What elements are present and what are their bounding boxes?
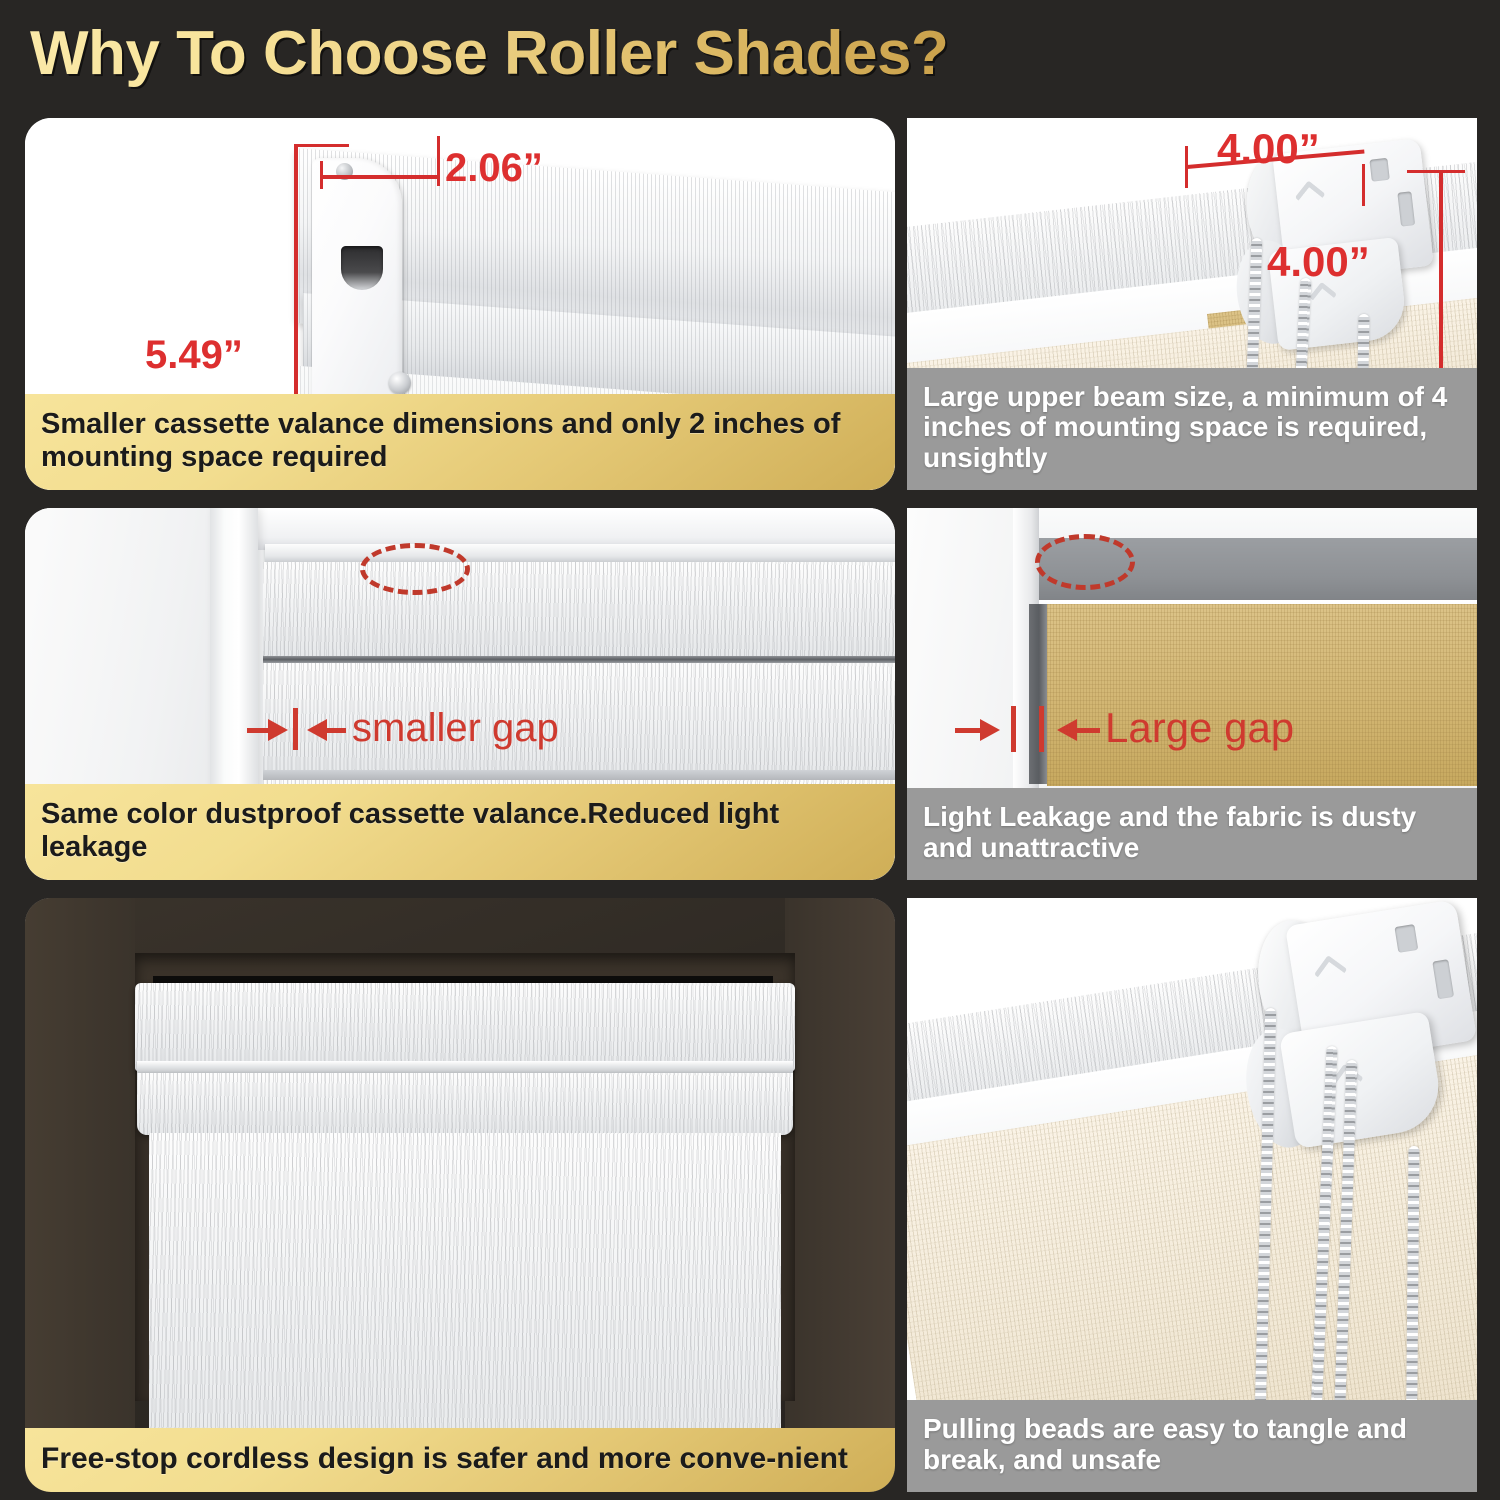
bracket-arrow-icon — [1295, 180, 1326, 211]
valance-shadow-line — [263, 656, 895, 663]
gap-marker-b — [1039, 706, 1044, 752]
beam-width-label: 4.00” — [1217, 125, 1320, 173]
shade-hem — [263, 770, 895, 780]
cassette-valance-front — [135, 983, 795, 1071]
height-dimension-label: 5.49” — [145, 333, 243, 378]
width-tick-left — [320, 161, 323, 189]
beam-width-tick-right — [1362, 164, 1365, 206]
gap-arrow-right-icon — [268, 719, 288, 741]
width-tick-right — [437, 136, 440, 186]
room-wall-left — [25, 898, 135, 1492]
gap-arrow-stem-right — [326, 728, 346, 733]
bracket-arrow-icon-6a — [1314, 955, 1348, 989]
large-gap-label: Large gap — [1105, 704, 1294, 752]
panel-4-caption: Light Leakage and the fabric is dusty an… — [907, 788, 1477, 880]
width-dimension-line — [320, 175, 440, 179]
comparison-grid: 2.06” 5.49” Smaller cassette valance dim… — [0, 110, 1500, 1500]
panel-smaller-cassette: 2.06” 5.49” Smaller cassette valance dim… — [25, 118, 895, 490]
panel-6-caption: Pulling beads are easy to tangle and bre… — [907, 1400, 1477, 1492]
gap-marker-a — [1011, 706, 1016, 752]
width-dimension-label: 2.06” — [445, 146, 543, 191]
height-tick-top — [294, 144, 349, 147]
large-gap-stem-left — [955, 728, 981, 733]
panel-large-gap: Large gap Light Leakage and the fabric i… — [907, 508, 1477, 880]
panel-2-caption: Large upper beam size, a minimum of 4 in… — [907, 368, 1477, 490]
cassette-seam — [137, 1061, 793, 1073]
gap-arrow-stem-left — [247, 728, 269, 733]
gap-marker — [293, 708, 298, 750]
panel-pulling-beads: Pulling beads are easy to tangle and bre… — [907, 898, 1477, 1492]
panel-5-photo — [25, 898, 895, 1492]
panel-cordless-design: Free-stop cordless design is safer and m… — [25, 898, 895, 1492]
large-gap-arrow-right-icon — [980, 719, 1000, 741]
panel-1-caption: Smaller cassette valance dimensions and … — [25, 394, 895, 490]
cassette-lower-lip — [137, 1073, 793, 1135]
highlight-ellipse — [360, 543, 470, 595]
light-gap-shadow — [1029, 604, 1047, 784]
beam-width-tick-left — [1185, 146, 1188, 188]
panel-large-upper-beam: 4.00” 4.00” Large upper beam size, a min… — [907, 118, 1477, 490]
large-gap-arrow-left-icon — [1057, 719, 1077, 741]
page-title: Why To Choose Roller Shades? — [30, 18, 948, 89]
beam-height-label: 4.00” — [1267, 238, 1370, 286]
endcap-screw-icon — [389, 372, 411, 394]
smaller-gap-label: smaller gap — [352, 706, 559, 751]
large-gap-stem-right — [1076, 728, 1100, 733]
cassette-valance — [263, 562, 895, 658]
highlight-ellipse-2 — [1035, 534, 1135, 590]
panel-smaller-gap: smaller gap Same color dustproof cassett… — [25, 508, 895, 880]
roller-shade-fabric — [149, 1133, 781, 1478]
room-wall-right — [785, 898, 895, 1492]
gap-arrow-left-icon — [307, 719, 327, 741]
panel-5-caption: Free-stop cordless design is safer and m… — [25, 1428, 895, 1492]
tan-shade-fabric — [1047, 604, 1477, 786]
panel-3-caption: Same color dustproof cassette valance.Re… — [25, 784, 895, 880]
beam-height-tick-top — [1407, 170, 1465, 173]
endcap-slot — [341, 246, 383, 290]
